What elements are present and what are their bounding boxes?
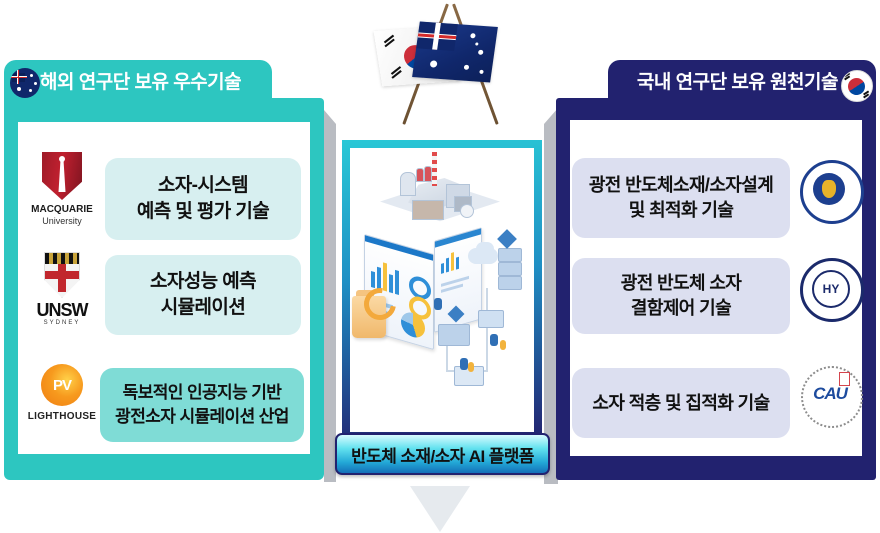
right-tech-item-3-line1: 소자 적층 및 집적화 기술	[592, 391, 769, 416]
right-tech-item-2-line1: 광전 반도체 소자	[621, 271, 742, 296]
left-tech-item-3-line2: 광전소자 시뮬레이션 산업	[115, 405, 289, 429]
left-tech-item-2-line1: 소자성능 예측	[150, 269, 256, 295]
ajou-university-seal	[792, 160, 872, 240]
korea-flag-icon	[841, 70, 873, 102]
macquarie-university-logo: MACQUARIE University	[22, 152, 102, 244]
right-tech-item-2-line2: 결함제어 기술	[621, 296, 742, 321]
unsw-logo-line2: SYDNEY	[22, 320, 102, 326]
unsw-logo-line1: UNSW	[22, 301, 102, 320]
pv-lighthouse-logo: PV LIGHTHOUSE	[22, 364, 102, 456]
left-panel-shadow	[324, 110, 336, 482]
right-tech-item-2[interactable]: 광전 반도체 소자 결함제어 기술	[572, 258, 790, 334]
chung-ang-university-seal: CAU	[790, 366, 870, 446]
left-tech-item-1-line1: 소자-시스템	[137, 173, 269, 199]
down-arrow-shape	[410, 486, 470, 532]
left-tech-item-2[interactable]: 소자성능 예측 시뮬레이션	[105, 255, 301, 335]
right-tech-item-3[interactable]: 소자 적층 및 집적화 기술	[572, 368, 790, 438]
macquarie-logo-line2: University	[22, 215, 102, 227]
smart-factory-ai-platform-illustration	[350, 148, 534, 432]
pv-logo-line2: LIGHTHOUSE	[22, 411, 102, 422]
right-tech-item-1-line2: 및 최적화 기술	[589, 198, 773, 223]
left-tech-item-2-line2: 시뮬레이션	[150, 295, 256, 321]
macquarie-logo-line1: MACQUARIE	[22, 204, 102, 215]
left-tech-item-1[interactable]: 소자-시스템 예측 및 평가 기술	[105, 158, 301, 240]
australia-flag-icon	[10, 68, 40, 98]
pv-logo-line1: PV	[53, 377, 71, 394]
hanyang-university-seal: HY	[792, 258, 872, 338]
left-tech-item-3[interactable]: 독보적인 인공지능 기반 광전소자 시뮬레이션 산업	[100, 368, 304, 442]
union-jack-icon	[416, 22, 458, 51]
diagram-canvas: 해외 연구단 보유 우수기술 MACQUARIE University UNSW…	[0, 0, 880, 533]
left-panel-title: 해외 연구단 보유 우수기술	[40, 70, 270, 96]
left-tech-item-3-line1: 독보적인 인공지능 기반	[115, 381, 289, 405]
unsw-sydney-logo: UNSW SYDNEY	[22, 252, 102, 344]
cau-seal-text: CAU	[801, 384, 859, 404]
left-tech-item-1-line2: 예측 및 평가 기술	[137, 199, 269, 225]
right-tech-item-1-line1: 광전 반도체소재/소자설계	[589, 173, 773, 198]
hanyang-seal-text: HY	[812, 270, 850, 308]
center-platform-banner[interactable]: 반도체 소재/소자 AI 플랫폼	[335, 433, 550, 475]
center-illustration-frame	[342, 140, 542, 440]
crossed-flags-group	[372, 2, 528, 132]
right-tech-item-1[interactable]: 광전 반도체소재/소자설계 및 최적화 기술	[572, 158, 790, 238]
australia-flag	[412, 22, 498, 83]
right-panel-title: 국내 연구단 보유 원천기술	[618, 70, 838, 96]
